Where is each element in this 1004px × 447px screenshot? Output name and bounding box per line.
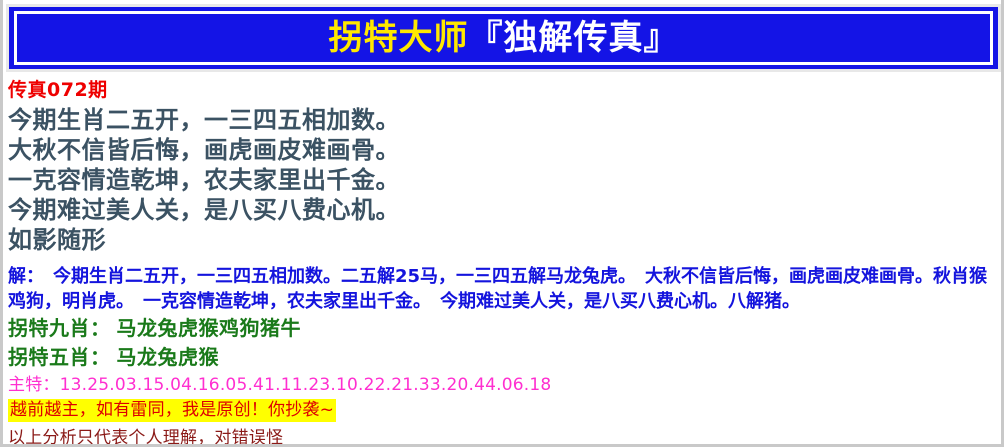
poem-line: 大秋不信皆后悔，画虎画皮难画骨。 bbox=[8, 135, 997, 165]
zodiac-nine-value: 马龙兔虎猴鸡狗猪牛 bbox=[117, 316, 302, 340]
poem-line: 今期生肖二五开，一三四五相加数。 bbox=[8, 105, 997, 135]
copyright-warning: 越前越主，如有雷同，我是原创！你抄袭~ bbox=[8, 399, 336, 422]
main-numbers-row: 主特：13.25.03.15.04.16.05.41.11.23.10.22.2… bbox=[8, 373, 997, 397]
main-numbers-label: 主特： bbox=[8, 375, 60, 395]
title-primary: 拐特大师 bbox=[329, 18, 469, 58]
poem-block: 今期生肖二五开，一三四五相加数。 大秋不信皆后悔，画虎画皮难画骨。 一克容情造乾… bbox=[8, 105, 997, 255]
poem-line: 今期难过美人关，是八买八费心机。 bbox=[8, 195, 997, 225]
explanation-paragraph: 解： 今期生肖二五开，一三四五相加数。二五解25马，一三四五解马龙兔虎。 大秋不… bbox=[8, 264, 1004, 314]
zodiac-row-five: 拐特五肖：马龙兔虎猴 bbox=[8, 343, 997, 372]
zodiac-five-value: 马龙兔虎猴 bbox=[117, 345, 220, 369]
disclaimer-text: 以上分析只代表个人理解，对错误怪 bbox=[8, 425, 997, 447]
page-title: 拐特大师『独解传真』 bbox=[9, 21, 998, 55]
zodiac-nine-label: 拐特九肖： bbox=[8, 316, 111, 340]
title-banner: 拐特大师『独解传真』 bbox=[9, 7, 998, 69]
poem-line: 一克容情造乾坤，农夫家里出千金。 bbox=[8, 165, 997, 195]
poem-line: 如影随形 bbox=[8, 225, 997, 255]
zodiac-row-nine: 拐特九肖：马龙兔虎猴鸡狗猪牛 bbox=[8, 314, 997, 343]
zodiac-five-label: 拐特五肖： bbox=[8, 345, 111, 369]
title-secondary: 『独解传真』 bbox=[469, 18, 679, 58]
page-root: 拐特大师『独解传真』 传真072期 今期生肖二五开，一三四五相加数。 大秋不信皆… bbox=[0, 0, 1004, 447]
banner-outer: 拐特大师『独解传真』 bbox=[6, 4, 1001, 72]
warning-row: 越前越主，如有雷同，我是原创！你抄袭~ bbox=[8, 398, 997, 422]
content-area: 传真072期 今期生肖二五开，一三四五相加数。 大秋不信皆后悔，画虎画皮难画骨。… bbox=[8, 78, 997, 447]
main-numbers-value: 13.25.03.15.04.16.05.41.11.23.10.22.21.3… bbox=[60, 375, 552, 395]
issue-number: 传真072期 bbox=[8, 78, 997, 103]
